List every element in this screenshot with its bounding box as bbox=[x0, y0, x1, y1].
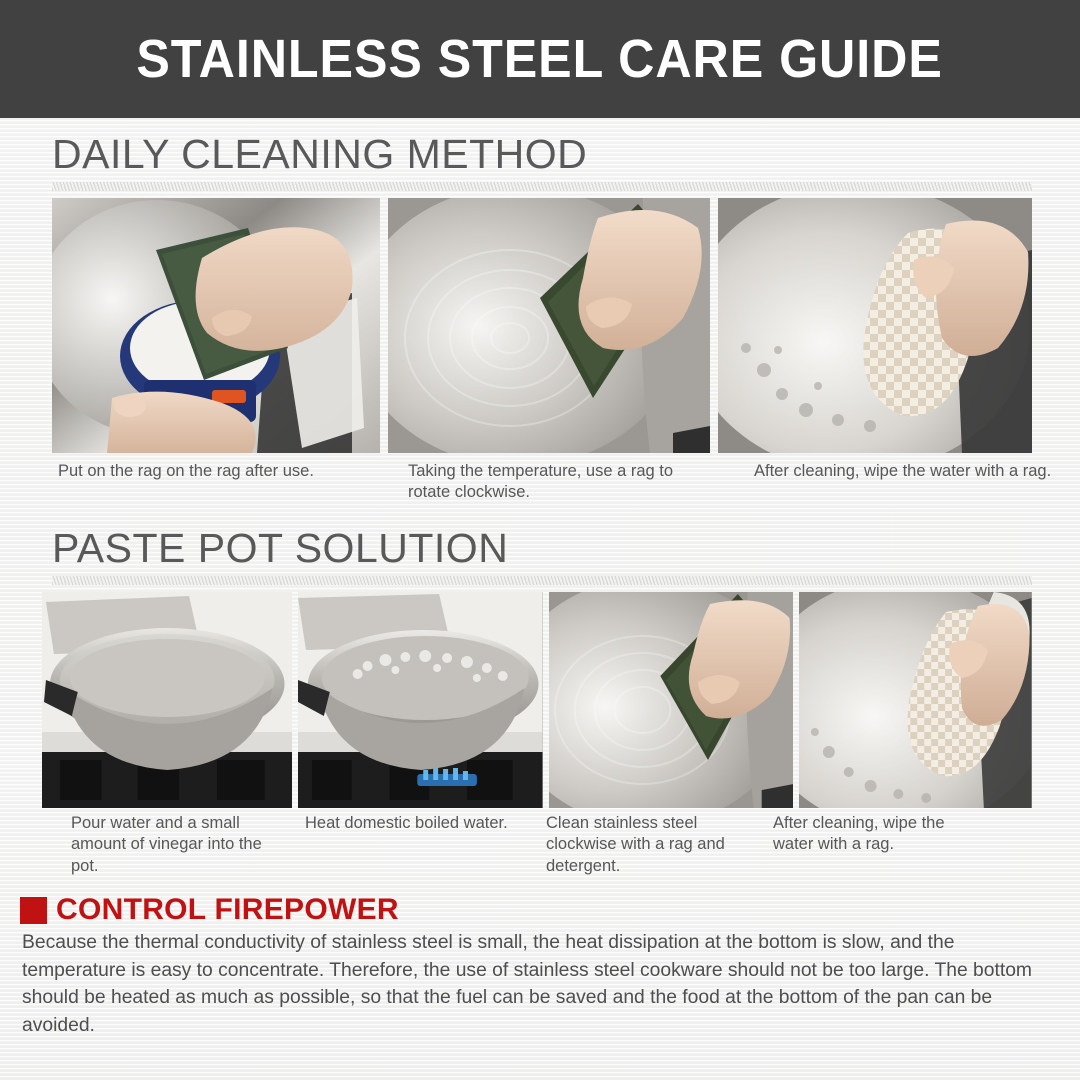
section-2-title: PASTE POT SOLUTION bbox=[52, 525, 508, 572]
section-1-title: DAILY CLEANING METHOD bbox=[52, 131, 587, 178]
caption-step-1: Pour water and a small amount of vinegar… bbox=[71, 813, 286, 877]
page-title: STAINLESS STEEL CARE GUIDE bbox=[137, 28, 943, 90]
photo-hand-wiping-stainless-steel-pot-with-checked-cloth[interactable] bbox=[718, 198, 1032, 453]
photo-hand-scrubbing-stainless-steel-pot-interior-with-green-pad[interactable] bbox=[388, 198, 710, 453]
section-1-divider bbox=[52, 182, 1032, 191]
photo-hand-with-green-scouring-pad-and-blue-tub-of-cleaning-paste[interactable] bbox=[52, 198, 380, 453]
section-1-photo-strip bbox=[52, 198, 1032, 453]
photo-stainless-steel-wok-with-water-on-gas-stove[interactable] bbox=[42, 592, 292, 808]
firepower-body-text: Because the thermal conductivity of stai… bbox=[22, 929, 1060, 1039]
photo-hand-drying-pot-with-checked-tea-towel[interactable] bbox=[799, 592, 1032, 808]
photo-stainless-steel-wok-with-boiling-water-on-lit-gas-burner[interactable] bbox=[298, 592, 542, 808]
section-2-divider bbox=[52, 576, 1032, 585]
photo-hand-cleaning-pot-clockwise-with-green-pad-and-detergent[interactable] bbox=[549, 592, 793, 808]
firepower-heading: CONTROL FIREPOWER bbox=[20, 893, 399, 927]
caption-step-2: Heat domestic boiled water. bbox=[305, 813, 555, 834]
caption-step-3: Clean stainless steel clockwise with a r… bbox=[546, 813, 746, 877]
infographic-page: STAINLESS STEEL CARE GUIDE DAILY CLEANIN… bbox=[0, 0, 1080, 1080]
section-heading-paste-pot: PASTE POT SOLUTION bbox=[52, 525, 508, 572]
section-2-photo-strip bbox=[42, 592, 1032, 808]
page-header: STAINLESS STEEL CARE GUIDE bbox=[0, 0, 1080, 118]
caption-step-4: After cleaning, wipe the water with a ra… bbox=[773, 813, 988, 856]
firepower-title: CONTROL FIREPOWER bbox=[56, 893, 399, 927]
section-heading-daily-cleaning: DAILY CLEANING METHOD bbox=[52, 131, 587, 178]
red-square-icon bbox=[20, 897, 47, 924]
caption-step-2: Taking the temperature, use a rag to rot… bbox=[408, 461, 708, 504]
caption-step-1: Put on the rag on the rag after use. bbox=[58, 461, 358, 482]
caption-step-3: After cleaning, wipe the water with a ra… bbox=[754, 461, 1054, 482]
